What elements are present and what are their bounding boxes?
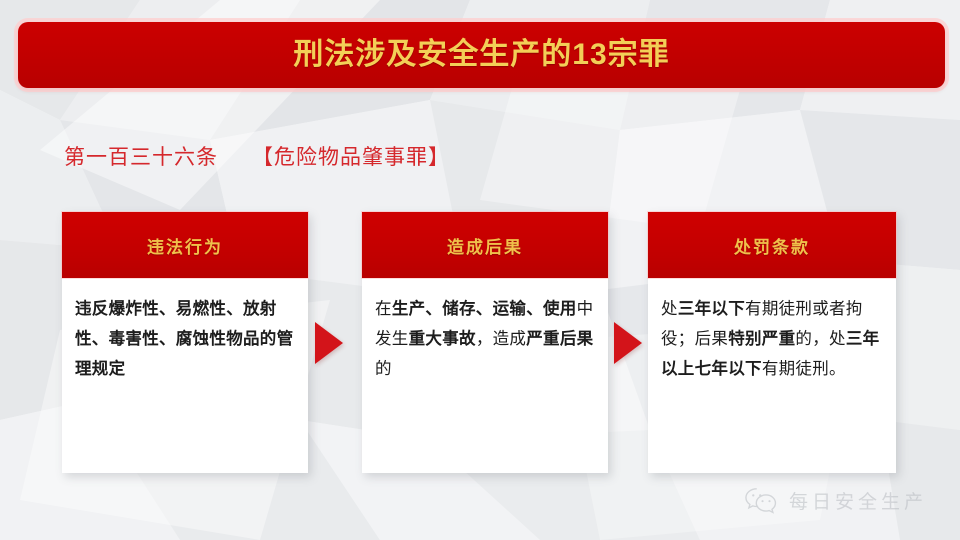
card-body-penalty: 处三年以下有期徒刑或者拘役；后果特别严重的，处三年以上七年以下有期徒刑。 [648,278,896,394]
watermark: 每日安全生产 [744,486,927,514]
text-segment: 有期徒刑。 [762,360,846,378]
text-segment: 的，处 [795,330,845,348]
card-consequences: 造成后果 在生产、储存、运输、使用中发生重大事故，造成严重后果的 [362,212,608,473]
title-banner: 刑法涉及安全生产的13宗罪 [18,22,945,88]
arrow-right-icon [315,322,343,364]
card-illegal-conduct: 违法行为 违反爆炸性、易燃性、放射性、毒害性、腐蚀性物品的管理规定 [62,212,308,473]
card-header-illegal-conduct: 违法行为 [62,212,308,278]
text-segment: 特别严重 [728,330,795,348]
text-segment: 重大事故 [409,330,476,348]
card-penalty: 处罚条款 处三年以下有期徒刑或者拘役；后果特别严重的，处三年以上七年以下有期徒刑… [648,212,896,473]
text-segment: 的 [375,360,392,378]
slide-canvas: 刑法涉及安全生产的13宗罪 第一百三十六条【危险物品肇事罪】 违法行为 违反爆炸… [0,0,960,540]
text-segment: 严重后果 [526,330,593,348]
article-subtitle: 第一百三十六条【危险物品肇事罪】 [64,141,450,171]
card-header-penalty: 处罚条款 [648,212,896,278]
card-body-consequences: 在生产、储存、运输、使用中发生重大事故，造成严重后果的 [362,278,608,394]
text-segment: 三年以下 [678,300,745,318]
text-segment: 处 [661,300,678,318]
text-segment: ，造成 [476,330,526,348]
watermark-text: 每日安全生产 [789,487,927,514]
article-number: 第一百三十六条 [64,146,218,169]
arrow-right-icon [614,322,642,364]
card-header-label: 违法行为 [147,233,223,258]
crime-name: 【危险物品肇事罪】 [252,146,450,169]
page-title: 刑法涉及安全生产的13宗罪 [293,40,669,70]
text-segment: 生产、储存、运输、使用 [392,300,577,318]
card-header-label: 处罚条款 [734,233,810,258]
wechat-icon [744,486,778,514]
card-header-label: 造成后果 [447,233,523,258]
text-segment: 违反爆炸性、易燃性、放射性、毒害性、腐蚀性物品的管理规定 [75,300,293,378]
card-header-consequences: 造成后果 [362,212,608,278]
text-segment: 在 [375,300,392,318]
card-body-illegal-conduct: 违反爆炸性、易燃性、放射性、毒害性、腐蚀性物品的管理规定 [62,278,308,394]
